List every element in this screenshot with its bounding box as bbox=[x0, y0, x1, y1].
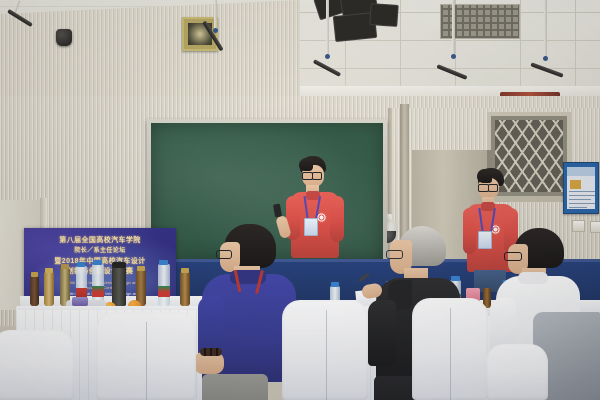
sleeve-right bbox=[330, 196, 344, 242]
glass-jar bbox=[112, 266, 126, 306]
chair-cover bbox=[412, 298, 488, 400]
microphone-boom bbox=[326, 0, 329, 56]
tea-bottle bbox=[30, 276, 39, 306]
sleeve-left bbox=[463, 208, 476, 254]
microphone-boom-joint bbox=[325, 54, 330, 59]
bottle-cap bbox=[61, 264, 69, 269]
beaded-bracelet bbox=[200, 348, 222, 356]
id-badge bbox=[304, 218, 318, 236]
microphone-boom bbox=[214, 0, 217, 30]
ceiling-tile-line bbox=[520, 0, 521, 92]
tea-bottle bbox=[180, 272, 190, 306]
glasses bbox=[504, 252, 522, 261]
microphone-boom-joint bbox=[543, 56, 548, 61]
chair-cover bbox=[0, 330, 74, 400]
bottle-cap bbox=[331, 282, 339, 287]
ceiling-tile-line bbox=[575, 0, 576, 92]
glasses bbox=[386, 250, 403, 259]
wall-speaker-icon bbox=[56, 29, 72, 46]
hair-fringe bbox=[477, 169, 492, 183]
bottle-label bbox=[158, 286, 170, 297]
chair-cover bbox=[486, 344, 548, 400]
bottle-cap bbox=[93, 260, 102, 265]
microphone-boom bbox=[544, 0, 547, 58]
collar bbox=[518, 272, 548, 284]
wall-switch[interactable] bbox=[590, 221, 600, 233]
bottle-cap bbox=[45, 268, 53, 273]
jar-lid bbox=[112, 262, 126, 268]
bottle-cap bbox=[31, 272, 38, 277]
chair-cover bbox=[96, 312, 196, 400]
glasses bbox=[216, 250, 232, 259]
hair-fringe bbox=[299, 158, 313, 171]
photo-scene: 第八届全国高校汽车学院 院长／系主任论坛 暨2018年中国高校汽车设计 创新与创… bbox=[0, 0, 600, 400]
chair-cover bbox=[282, 300, 368, 400]
sleeve bbox=[368, 300, 396, 366]
microphone-boom-joint bbox=[213, 28, 218, 33]
bottle-cap bbox=[159, 260, 168, 265]
microphone-boom-joint bbox=[451, 54, 456, 59]
tea-bottle bbox=[44, 272, 54, 306]
banner-headline-line1: 第八届全国高校汽车学院 bbox=[24, 235, 176, 245]
glasses bbox=[312, 172, 322, 180]
snack-box bbox=[72, 297, 88, 306]
glasses bbox=[488, 184, 498, 192]
notice-board[interactable] bbox=[563, 162, 599, 214]
banner-headline-line2: 院长／系主任论坛 bbox=[24, 245, 176, 254]
bottle-cap bbox=[181, 268, 189, 273]
microphone-boom bbox=[452, 0, 455, 56]
id-badge bbox=[478, 231, 492, 249]
bottle-cap bbox=[77, 262, 85, 267]
bottle-label bbox=[92, 286, 104, 297]
water-bottle bbox=[158, 264, 170, 306]
trousers bbox=[202, 374, 268, 400]
bottle-cap bbox=[137, 266, 145, 271]
